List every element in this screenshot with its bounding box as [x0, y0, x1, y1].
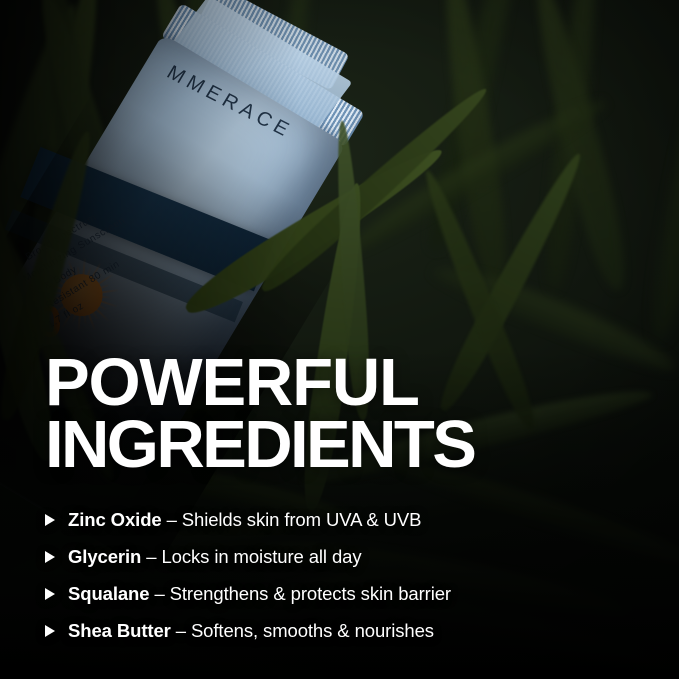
ingredient-dash: –: [171, 620, 191, 642]
ingredient-name: Zinc Oxide: [68, 509, 162, 531]
ingredient-dash: –: [141, 546, 161, 568]
headline-line-1: POWERFUL: [45, 352, 474, 414]
ingredient-description: Locks in moisture all day: [161, 546, 361, 568]
ingredient-name: Squalane: [68, 583, 149, 605]
triangle-bullet-icon: [45, 625, 55, 637]
ingredient-item: Shea Butter–Softens, smooths & nourishes: [45, 612, 645, 649]
ingredient-name: Glycerin: [68, 546, 141, 568]
triangle-bullet-icon: [45, 588, 55, 600]
triangle-bullet-icon: [45, 551, 55, 563]
ingredient-dash: –: [149, 583, 169, 605]
text-content: POWERFUL INGREDIENTS Zinc Oxide–Shields …: [0, 0, 679, 679]
ingredient-list: Zinc Oxide–Shields skin from UVA & UVBGl…: [45, 501, 645, 649]
ingredient-name: Shea Butter: [68, 620, 171, 642]
triangle-bullet-icon: [45, 514, 55, 526]
ingredient-dash: –: [162, 509, 182, 531]
ingredient-item: Squalane–Strengthens & protects skin bar…: [45, 575, 645, 612]
ingredient-description: Strengthens & protects skin barrier: [170, 583, 451, 605]
ingredient-item: Glycerin–Locks in moisture all day: [45, 538, 645, 575]
page-title: POWERFUL INGREDIENTS: [45, 352, 474, 477]
ingredient-description: Shields skin from UVA & UVB: [182, 509, 422, 531]
ingredient-item: Zinc Oxide–Shields skin from UVA & UVB: [45, 501, 645, 538]
ingredient-description: Softens, smooths & nourishes: [191, 620, 434, 642]
promo-image: MMERACE 30 Broad SpectrumMoisturizing Su…: [0, 0, 679, 679]
headline-line-2: INGREDIENTS: [45, 414, 474, 476]
